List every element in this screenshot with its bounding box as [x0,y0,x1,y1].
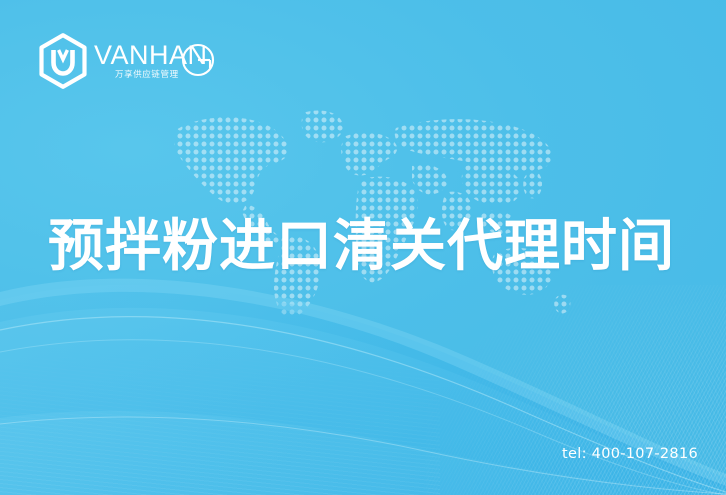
contact-phone: tel: 400-107-2816 [562,446,698,462]
hexagon-u-mark-icon [34,32,92,90]
dotted-world-map [160,100,580,325]
brand-logo[interactable]: VANHAN 万享供应链管理 [34,30,216,92]
svg-text:VANHAN: VANHAN [94,40,208,70]
svg-text:万享供应链管理: 万享供应链管理 [115,69,179,80]
brand-wordmark: VANHAN 万享供应链管理 [94,32,216,90]
promo-banner: VANHAN 万享供应链管理 预拌粉进口清关代理时间 tel: 400-107-… [0,0,726,495]
page-title: 预拌粉进口清关代理时间 [48,214,688,280]
